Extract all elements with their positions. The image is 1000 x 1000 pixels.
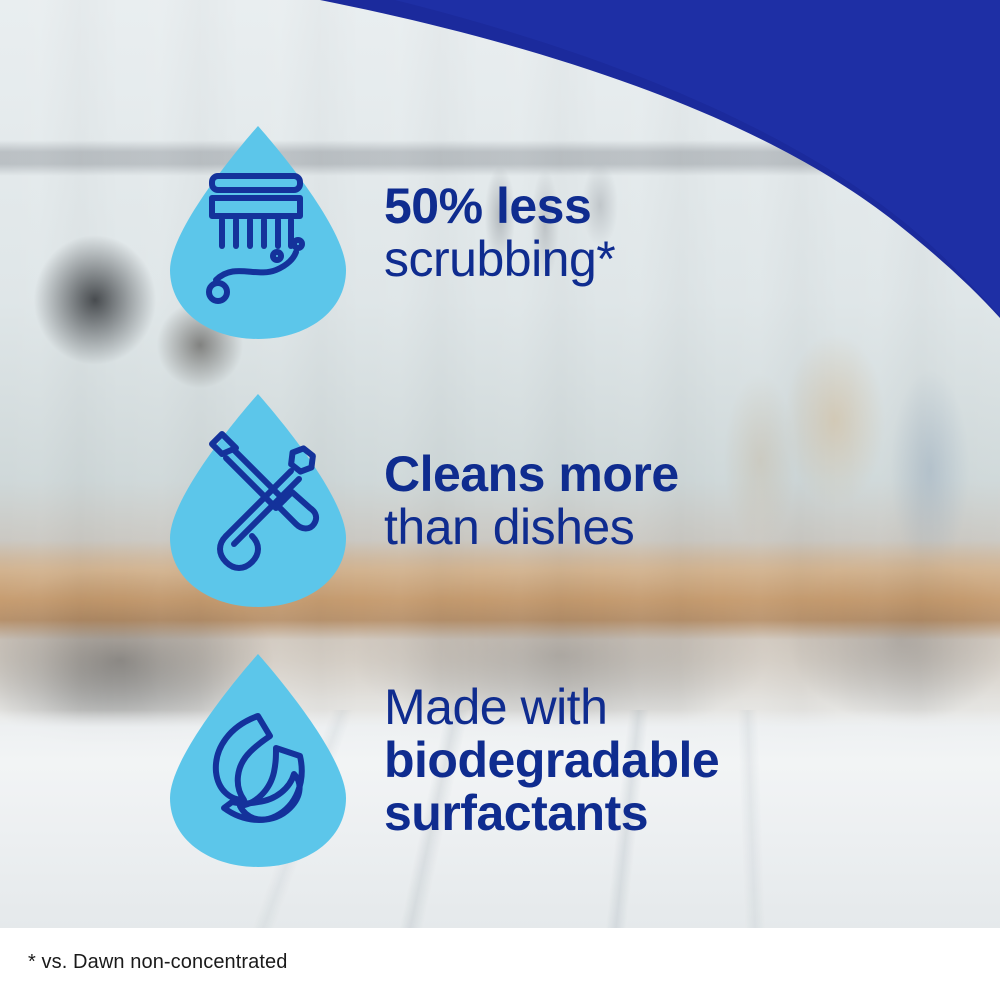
feature-line: 50% less xyxy=(384,180,615,233)
droplet-shape xyxy=(160,120,356,345)
feature-text: Cleans more than dishes xyxy=(384,448,679,554)
footnote: * vs. Dawn non-concentrated xyxy=(28,951,288,974)
droplet-badge xyxy=(160,388,356,613)
poster: 50% less scrubbing* xyxy=(0,0,1000,1000)
feature-line: surfactants xyxy=(384,787,719,840)
feature-item: Made with biodegradable surfactants xyxy=(160,648,719,873)
feature-text: Made with biodegradable surfactants xyxy=(384,681,719,840)
droplet-shape xyxy=(160,388,356,613)
feature-line: Made with xyxy=(384,681,719,734)
feature-item: 50% less scrubbing* xyxy=(160,120,615,345)
feature-text: 50% less scrubbing* xyxy=(384,180,615,286)
feature-item: Cleans more than dishes xyxy=(160,388,679,613)
feature-list: 50% less scrubbing* xyxy=(0,0,1000,1000)
droplet-badge xyxy=(160,648,356,873)
feature-line: scrubbing* xyxy=(384,233,615,286)
droplet-shape xyxy=(160,648,356,873)
droplet-badge xyxy=(160,120,356,345)
feature-line: Cleans more xyxy=(384,448,679,501)
feature-line: than dishes xyxy=(384,501,679,554)
feature-line: biodegradable xyxy=(384,734,719,787)
